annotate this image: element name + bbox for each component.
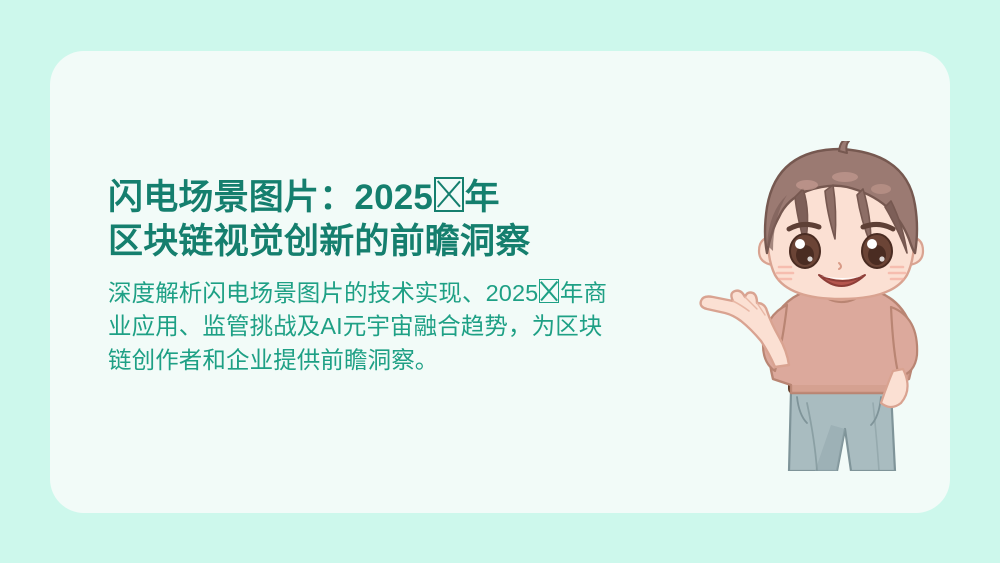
text-column: 闪电场景图片：2025年区块链视觉创新的前瞻洞察 深度解析闪电场景图片的技术实现…: [108, 176, 608, 377]
right-eye: [862, 234, 892, 268]
left-eye: [790, 234, 820, 268]
page-title: 闪电场景图片：2025年区块链视觉创新的前瞻洞察: [108, 176, 608, 265]
page-subtitle: 深度解析闪电场景图片的技术实现、2025年商业应用、监管挑战及AI元宇宙融合趋势…: [108, 277, 608, 377]
headline-line1-before: 闪电场景图片：2025: [108, 178, 433, 217]
poster-canvas: 闪电场景图片：2025年区块链视觉创新的前瞻洞察 深度解析闪电场景图片的技术实现…: [0, 0, 1000, 563]
subtitle-segment-1: 深度解析闪电场景图片的技术实现、2025: [108, 280, 538, 306]
content-card: 闪电场景图片：2025年区块链视觉创新的前瞻洞察 深度解析闪电场景图片的技术实现…: [50, 51, 950, 513]
pointing-boy-illustration: [695, 141, 950, 471]
missing-glyph-icon: [539, 279, 560, 303]
headline-line2: 区块链视觉创新的前瞻洞察: [108, 222, 530, 261]
missing-glyph-icon: [434, 177, 464, 212]
pointing-hand: [701, 291, 789, 367]
headline-line1-after: 年: [465, 178, 500, 217]
